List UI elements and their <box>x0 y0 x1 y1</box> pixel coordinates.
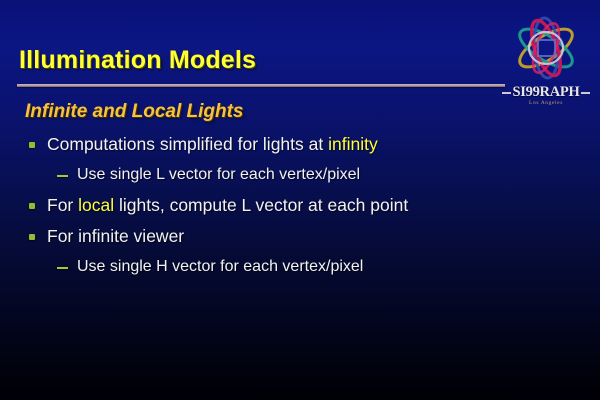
bullet-text-run: Use single L vector for each vertex/pixe… <box>77 166 360 183</box>
page-title: Illumination Models <box>19 46 256 75</box>
sub-bullet-item: Use single H vector for each vertex/pixe… <box>0 256 600 277</box>
bullet-text: Use single L vector for each vertex/pixe… <box>77 164 360 185</box>
siggraph-city-label: Los Angeles <box>497 100 595 106</box>
bullet-text: Computations simplified for lights at in… <box>47 133 378 155</box>
bullet-text-run: lights, compute L vector at each point <box>114 195 408 215</box>
bullet-item: For local lights, compute L vector at ea… <box>0 194 600 216</box>
highlighted-term: local <box>78 195 114 215</box>
bullet-text-run: For infinite viewer <box>47 226 184 246</box>
siggraph-logo: SI99RAPH Los Angeles <box>497 12 595 104</box>
bullet-item: Computations simplified for lights at in… <box>0 133 600 155</box>
wordmark-text: SI99RAPH <box>513 84 580 100</box>
wordmark-left-rule <box>502 92 511 94</box>
siggraph-rings-icon <box>497 12 595 88</box>
bullet-text: For infinite viewer <box>47 225 184 247</box>
wordmark-right-rule <box>581 92 590 94</box>
slide-subtitle: Infinite and Local Lights <box>25 101 244 123</box>
bullet-text-run: Computations simplified for lights at <box>47 134 328 154</box>
bullet-dot-icon <box>29 203 35 209</box>
highlighted-term: infinity <box>328 134 378 154</box>
slide-canvas: Illumination Models Infinite and Local L… <box>0 0 600 400</box>
bullet-item: For infinite viewer <box>0 225 600 247</box>
sub-bullet-item: Use single L vector for each vertex/pixe… <box>0 164 600 185</box>
bullet-list: Computations simplified for lights at in… <box>0 133 600 286</box>
bullet-dash-icon <box>57 267 68 269</box>
siggraph-wordmark: SI99RAPH <box>497 84 595 101</box>
title-divider <box>17 84 505 87</box>
bullet-text: For local lights, compute L vector at ea… <box>47 194 408 216</box>
bullet-dot-icon <box>29 142 35 148</box>
bullet-text: Use single H vector for each vertex/pixe… <box>77 256 363 277</box>
bullet-text-run: Use single H vector for each vertex/pixe… <box>77 258 363 275</box>
bullet-dot-icon <box>29 234 35 240</box>
bullet-text-run: For <box>47 195 78 215</box>
bullet-dash-icon <box>57 175 68 177</box>
